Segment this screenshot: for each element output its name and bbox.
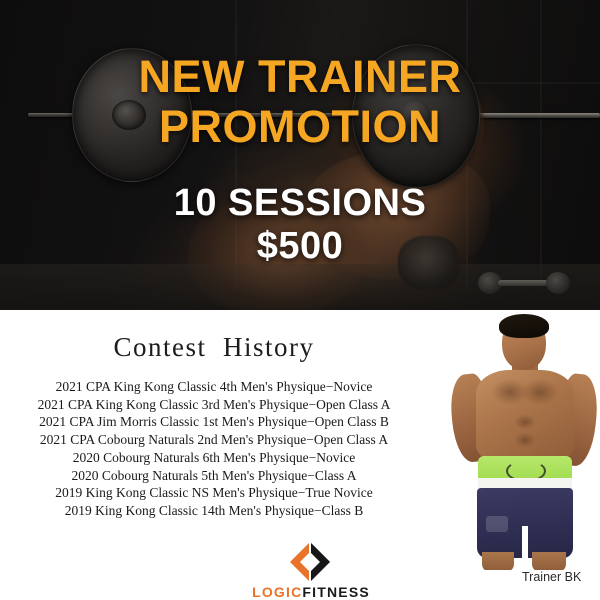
contest-history-title: Contest History bbox=[0, 332, 428, 363]
contest-history-item: 2020 Cobourg Naturals 5th Men's Physique… bbox=[0, 467, 428, 485]
contest-history-item: 2021 CPA Jim Morris Classic 1st Men's Ph… bbox=[0, 413, 428, 431]
logic-fitness-diamond-icon bbox=[282, 542, 340, 582]
headline-line-1: NEW TRAINER bbox=[0, 52, 600, 102]
headline-line-2: PROMOTION bbox=[0, 102, 600, 152]
trainer-caption: Trainer BK bbox=[522, 570, 581, 584]
trainer-right-leg bbox=[532, 552, 566, 570]
trainer-photo bbox=[450, 312, 600, 570]
offer-price-text: $500 bbox=[0, 225, 600, 268]
trainer-hair bbox=[499, 314, 549, 338]
offer-sessions-text: 10 SESSIONS bbox=[0, 182, 600, 225]
promotional-poster: NEW TRAINER PROMOTION 10 SESSIONS $500 C… bbox=[0, 0, 600, 600]
contest-history-item: 2021 CPA King Kong Classic 3rd Men's Phy… bbox=[0, 396, 428, 414]
contest-history-item: 2021 CPA King Kong Classic 4th Men's Phy… bbox=[0, 378, 428, 396]
trainer-shorts-logo bbox=[486, 516, 508, 532]
trainer-shorts-split bbox=[522, 526, 528, 558]
headline: NEW TRAINER PROMOTION bbox=[0, 52, 600, 152]
offer-block: 10 SESSIONS $500 bbox=[0, 182, 600, 268]
dumbbell-bar bbox=[498, 280, 552, 286]
contest-history-item: 2019 King Kong Classic NS Men's Physique… bbox=[0, 484, 428, 502]
contest-history-list: 2021 CPA King Kong Classic 4th Men's Phy… bbox=[0, 378, 428, 520]
hero-banner: NEW TRAINER PROMOTION 10 SESSIONS $500 bbox=[0, 0, 600, 310]
trainer-left-leg bbox=[482, 552, 514, 570]
contest-history-item: 2021 CPA Cobourg Naturals 2nd Men's Phys… bbox=[0, 431, 428, 449]
contest-history-item: 2019 King Kong Classic 14th Men's Physiq… bbox=[0, 502, 428, 520]
brand-logo: LOGICFITNESS bbox=[246, 542, 376, 600]
brand-logo-word-fitness: FITNESS bbox=[302, 584, 370, 600]
dumbbell-icon bbox=[478, 272, 570, 294]
brand-logo-word-logic: LOGIC bbox=[252, 584, 302, 600]
contest-history-item: 2020 Cobourg Naturals 6th Men's Physique… bbox=[0, 449, 428, 467]
trainer-torso bbox=[476, 370, 574, 462]
brand-logo-text: LOGICFITNESS bbox=[246, 584, 376, 600]
